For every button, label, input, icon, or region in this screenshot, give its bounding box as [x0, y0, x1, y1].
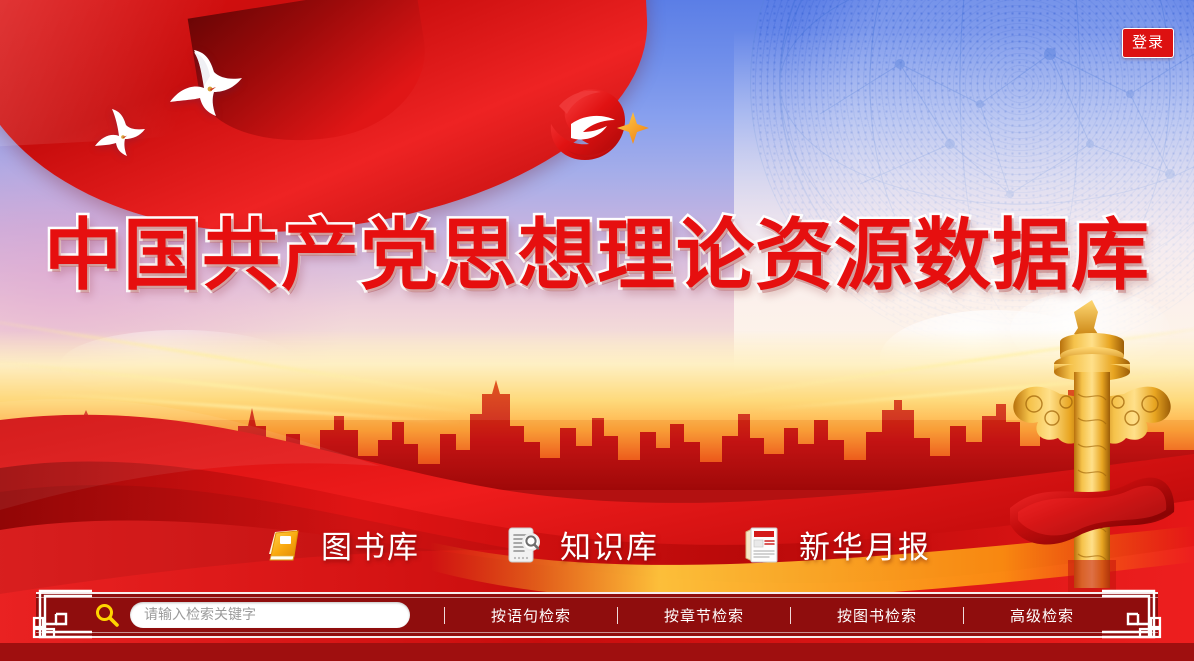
bottom-strip [0, 643, 1194, 661]
search-mode-advanced[interactable]: 高级检索 [964, 605, 1120, 626]
search-mode-book[interactable]: 按图书检索 [791, 605, 963, 626]
nav-label: 知识库 [560, 522, 659, 567]
primary-nav: 图书库 知识库 [0, 518, 1194, 571]
nav-label: 新华月报 [799, 522, 931, 567]
page-title: 中国共产党思想理论资源数据库 [0, 208, 1194, 304]
dove-icon [160, 48, 248, 122]
nav-item-knowledge-base[interactable]: 知识库 [496, 518, 665, 571]
dove-icon [88, 108, 150, 160]
nav-label: 图书库 [321, 522, 420, 567]
document-search-icon [502, 524, 544, 566]
site-logo-icon [545, 84, 649, 168]
search-mode-sentence[interactable]: 按语句检索 [445, 605, 617, 626]
chinese-fret-corner-icon [1100, 588, 1164, 640]
chinese-fret-corner-icon [30, 588, 94, 640]
search-bar: 按语句检索 按章节检索 按图书检索 高级检索 [36, 592, 1158, 638]
book-icon [263, 524, 305, 566]
search-modes: 按语句检索 按章节检索 按图书检索 高级检索 [444, 605, 1120, 626]
nav-item-xinhua-monthly[interactable]: 新华月报 [735, 518, 937, 571]
search-mode-chapter[interactable]: 按章节检索 [618, 605, 790, 626]
nav-item-book-library[interactable]: 图书库 [257, 518, 426, 571]
landing-page: 中国共产党思想理论资源数据库 登录 图书库 [0, 0, 1194, 661]
search-input[interactable] [130, 602, 410, 628]
login-button[interactable]: 登录 [1122, 28, 1174, 58]
search-icon[interactable] [94, 602, 120, 628]
newspaper-icon [741, 524, 783, 566]
